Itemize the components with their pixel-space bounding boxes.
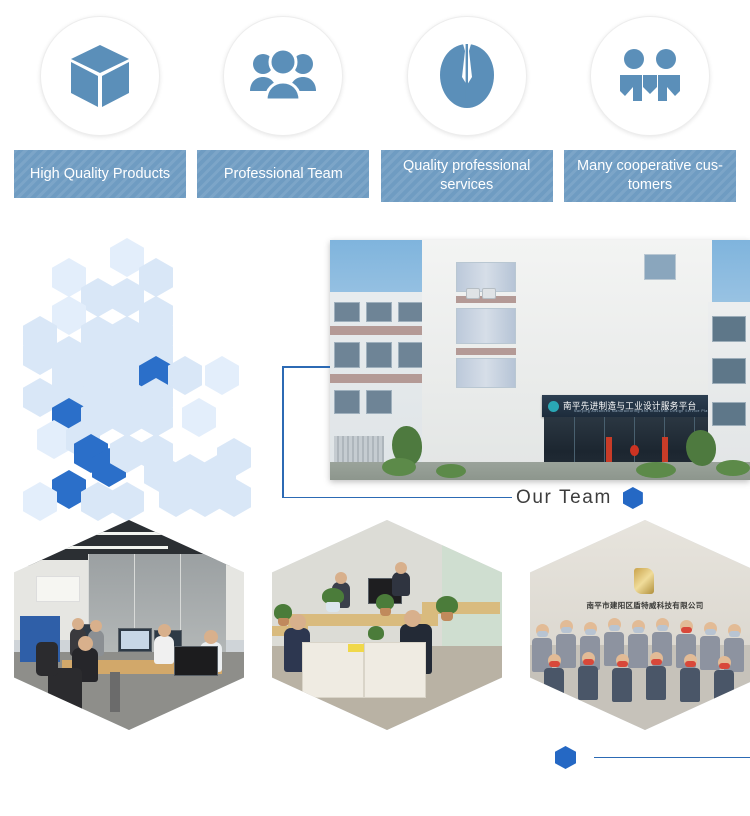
company-profile-page: High Quality Products Professional Team (0, 0, 750, 816)
feature-card-many-cooperative-customers[interactable]: Many cooperative cus-tomers (564, 0, 736, 210)
platform-logo-icon (548, 401, 559, 412)
office-workspace-photo[interactable] (14, 520, 244, 730)
feature-label: High Quality Products (14, 150, 186, 198)
feature-label: Professional Team (197, 150, 369, 198)
cube-icon (40, 16, 160, 136)
bottom-decoration (555, 746, 750, 769)
office-desks-photo[interactable] (272, 520, 502, 730)
divider-line (594, 757, 750, 759)
staff-group-photo[interactable]: 南平市建阳区盾特威科技有限公司 (530, 520, 750, 730)
honeycomb-accent-hex (52, 470, 86, 509)
company-logo-icon (634, 568, 654, 594)
feature-card-professional-team[interactable]: Professional Team (197, 0, 369, 210)
our-team-heading: Our Team (516, 487, 643, 509)
handshake-icon (590, 16, 710, 136)
company-name-text: 南平市建阳区盾特威科技有限公司 (587, 600, 704, 611)
hexagon-accent-icon (555, 746, 576, 769)
page-title: Our Team (516, 487, 612, 509)
bracket-decoration (282, 366, 512, 498)
honeycomb-decoration (12, 238, 257, 513)
feature-highlights-row: High Quality Products Professional Team (0, 0, 750, 210)
feature-label: Quality professional services (381, 150, 553, 202)
suit-tie-icon (407, 16, 527, 136)
feature-card-high-quality-products[interactable]: High Quality Products (14, 0, 186, 210)
signboard-subtext: Nanping Advanced Manufacturing and Indus… (574, 409, 718, 413)
building-signboard: 南平先进制造与工业设计服务平台 Nanping Advanced Manufac… (542, 395, 727, 417)
hexagon-accent-icon (623, 487, 643, 509)
feature-card-quality-professional-services[interactable]: Quality professional services (381, 0, 553, 210)
team-photos-row: 南平市建阳区盾特威科技有限公司 (0, 520, 750, 735)
team-icon (223, 16, 343, 136)
feature-label: Many cooperative cus-tomers (564, 150, 736, 202)
